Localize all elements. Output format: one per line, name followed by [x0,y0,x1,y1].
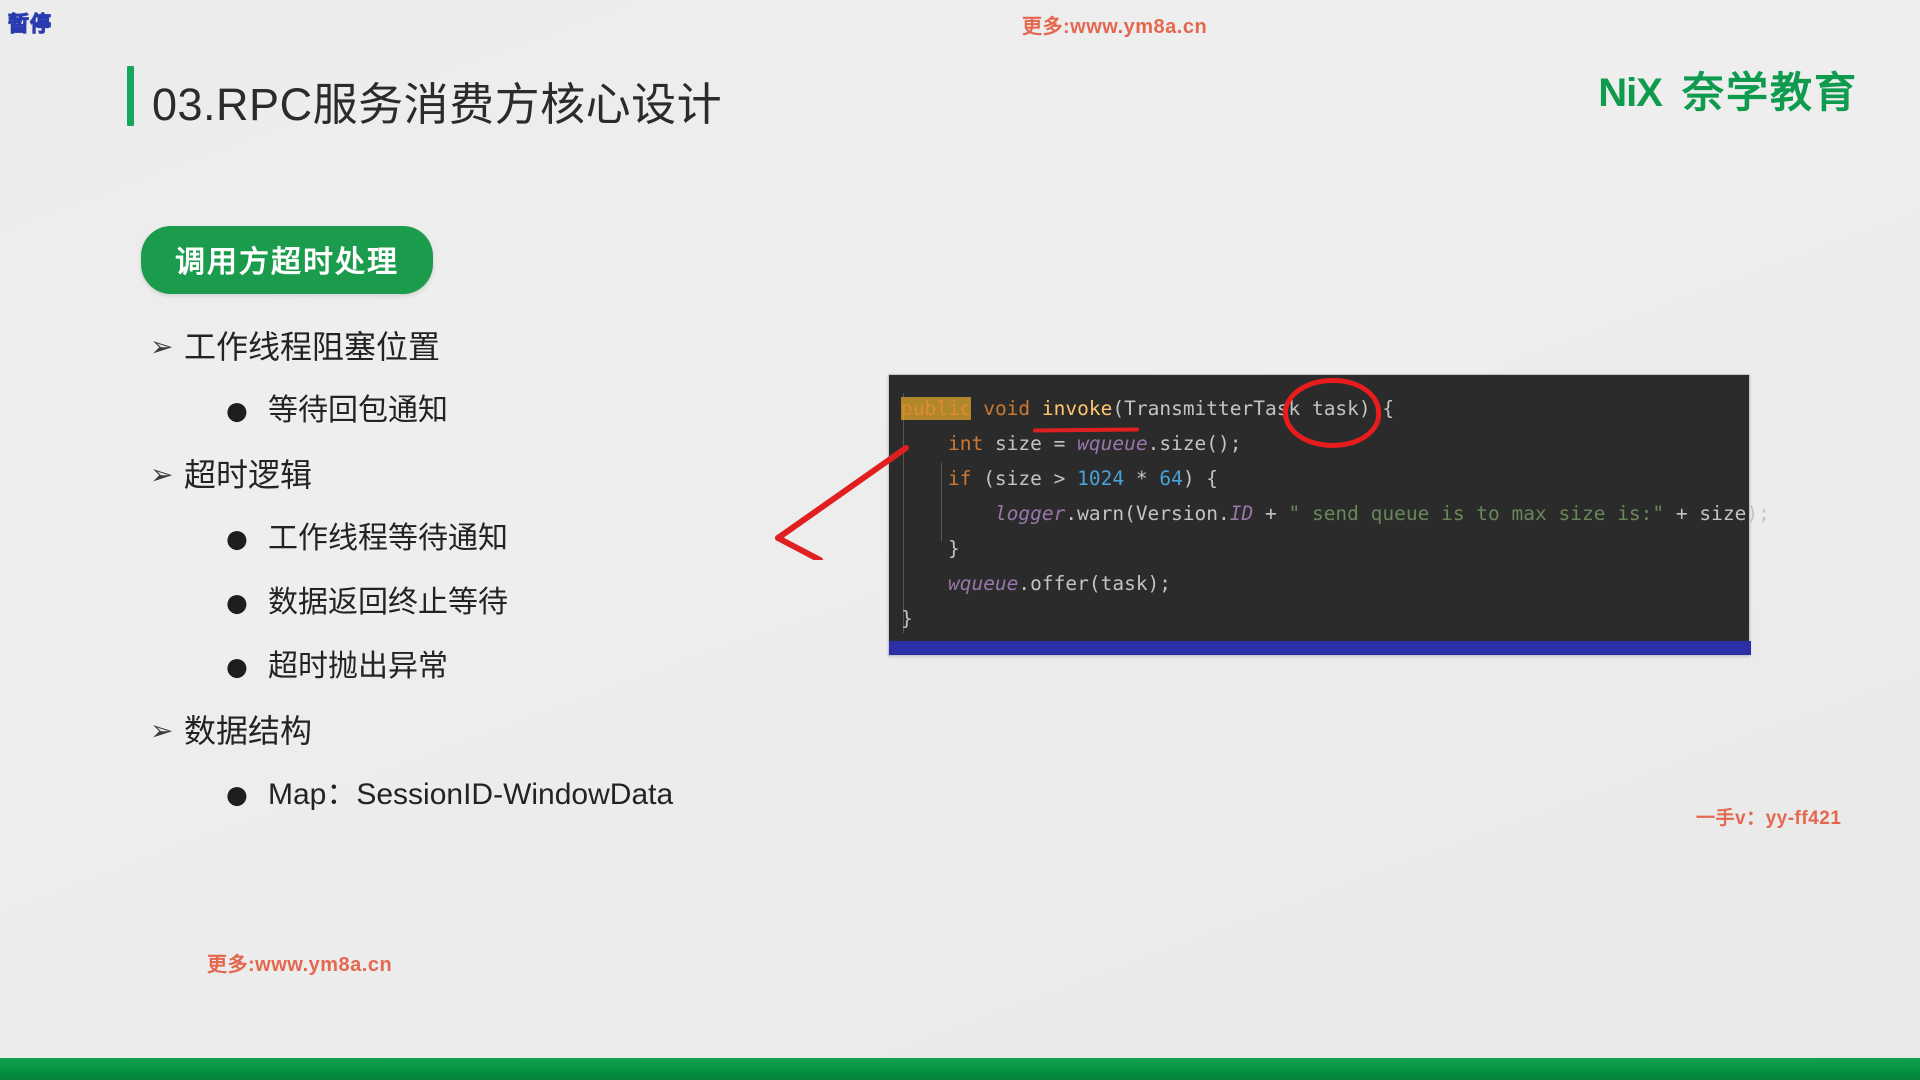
watermark-top: 更多:www.ym8a.cn [1022,10,1207,39]
code-token: if [948,467,971,490]
outline-item-label: Map：SessionID-WindowData [268,773,673,817]
code-token: .offer(task); [1018,572,1171,595]
section-badge: 调用方超时处理 [141,226,433,294]
outline-item-label: 超时逻辑 [184,453,312,497]
code-line: if (size > 1024 * 64) { [889,461,1751,496]
code-token: .size(); [1148,432,1242,455]
outline-list: ➢工作线程阻塞位置●等待回包通知➢超时逻辑●工作线程等待通知●数据返回终止等待●… [150,325,870,837]
code-token: * [1124,467,1159,490]
pause-indicator: 暂停 [8,8,52,38]
brand-mark-icon: NiX [1598,73,1662,113]
code-token: .warn(Version. [1065,502,1229,525]
watermark-bottom-left: 更多:www.ym8a.cn [207,948,392,977]
outline-item: ●数据返回终止等待 [150,581,870,625]
code-token: 1024 [1077,467,1124,490]
outline-item: ➢数据结构 [150,709,870,753]
title-accent-bar [127,66,134,126]
code-token: logger [995,502,1065,525]
outline-item-label: 数据结构 [184,709,312,753]
code-token: void [983,397,1030,420]
code-token: " send queue is to max size is:" [1288,502,1664,525]
brand-logo: NiX 奈学教育 [1598,72,1858,114]
slide-canvas: 03.RPC服务消费方核心设计 NiX 奈学教育 调用方超时处理 ➢工作线程阻塞… [0,0,1920,1058]
arrow-bullet-icon: ➢ [150,325,184,369]
outline-item-label: 工作线程等待通知 [268,517,508,561]
video-progress-bar[interactable] [0,1058,1920,1080]
arrow-bullet-icon: ➢ [150,453,184,497]
page-title: 03.RPC服务消费方核心设计 [152,68,722,133]
code-token [901,467,948,490]
outline-item: ●工作线程等待通知 [150,517,870,561]
section-badge-label: 调用方超时处理 [175,246,399,279]
code-token [901,432,948,455]
code-line: } [889,601,1751,636]
dot-bullet-icon: ● [226,389,268,433]
code-token [1030,397,1042,420]
code-token: int [948,432,983,455]
watermark-contact: 一手v：yy-ff421 [1696,803,1841,830]
code-token: wqueue [1077,432,1147,455]
code-token [901,572,948,595]
dot-bullet-icon: ● [226,773,268,817]
outline-item-label: 等待回包通知 [268,389,448,433]
dot-bullet-icon: ● [226,645,268,689]
outline-item: ●超时抛出异常 [150,645,870,689]
code-token: invoke [1042,397,1112,420]
code-token [901,502,995,525]
code-token: ID [1230,502,1253,525]
code-token: public [901,397,971,420]
code-token: } [901,537,960,560]
outline-item: ●等待回包通知 [150,389,870,433]
code-line: wqueue.offer(task); [889,566,1751,601]
code-token [971,397,983,420]
outline-item: ➢超时逻辑 [150,453,870,497]
code-token: (size > [971,467,1077,490]
code-token: + size); [1664,502,1770,525]
dot-bullet-icon: ● [226,581,268,625]
code-token: size = [983,432,1077,455]
code-token: wqueue [948,572,1018,595]
outline-item: ➢工作线程阻塞位置 [150,325,870,369]
outline-item: ●Map：SessionID-WindowData [150,773,870,817]
code-token: + [1253,502,1288,525]
code-panel-accent-bar [889,641,1751,655]
outline-item-label: 工作线程阻塞位置 [184,325,440,369]
dot-bullet-icon: ● [226,517,268,561]
arrow-bullet-icon: ➢ [150,709,184,753]
brand-name: 奈学教育 [1682,72,1858,114]
outline-item-label: 超时抛出异常 [268,645,448,689]
code-line: } [889,531,1751,566]
code-token: } [901,607,913,630]
code-line: logger.warn(Version.ID + " send queue is… [889,496,1751,531]
outline-item-label: 数据返回终止等待 [268,581,508,625]
code-token: 64 [1159,467,1182,490]
code-token: ) { [1183,467,1218,490]
